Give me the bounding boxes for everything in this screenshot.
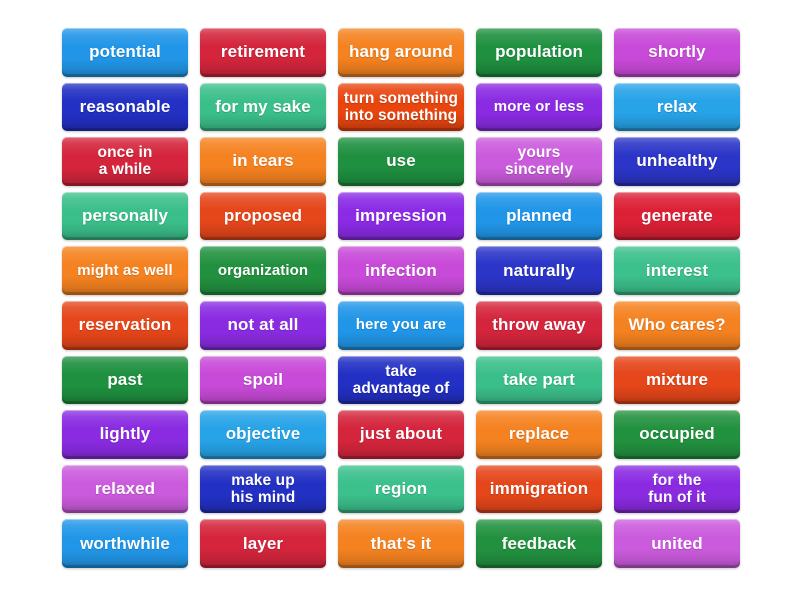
- word-tile[interactable]: potential: [62, 28, 188, 77]
- word-tile-label: throw away: [480, 316, 598, 334]
- word-tile-label: region: [342, 480, 460, 498]
- word-tile-label: objective: [204, 425, 322, 443]
- word-tile[interactable]: planned: [476, 192, 602, 241]
- word-tile[interactable]: immigration: [476, 465, 602, 514]
- word-tile-label: take advantage of: [342, 363, 460, 398]
- word-tile[interactable]: relax: [614, 83, 740, 132]
- word-tile-label: in tears: [204, 152, 322, 170]
- word-tile-label: generate: [618, 207, 736, 225]
- word-tile[interactable]: yours sincerely: [476, 137, 602, 186]
- word-tile[interactable]: turn something into something: [338, 83, 464, 132]
- word-tile-label: occupied: [618, 425, 736, 443]
- word-tile[interactable]: mixture: [614, 356, 740, 405]
- word-tile[interactable]: for the fun of it: [614, 465, 740, 514]
- word-tile-label: population: [480, 43, 598, 61]
- word-tile[interactable]: reservation: [62, 301, 188, 350]
- word-tile[interactable]: layer: [200, 519, 326, 568]
- word-tile[interactable]: generate: [614, 192, 740, 241]
- word-tile-label: retirement: [204, 43, 322, 61]
- word-tile[interactable]: impression: [338, 192, 464, 241]
- word-tile[interactable]: once in a while: [62, 137, 188, 186]
- word-tile-label: here you are: [342, 317, 460, 333]
- word-tile[interactable]: shortly: [614, 28, 740, 77]
- word-tile-label: layer: [204, 535, 322, 553]
- word-tile[interactable]: region: [338, 465, 464, 514]
- word-tile-label: yours sincerely: [480, 144, 598, 179]
- word-tile[interactable]: hang around: [338, 28, 464, 77]
- word-tile[interactable]: past: [62, 356, 188, 405]
- word-tile[interactable]: might as well: [62, 246, 188, 295]
- word-tile[interactable]: for my sake: [200, 83, 326, 132]
- word-tile[interactable]: just about: [338, 410, 464, 459]
- word-tile[interactable]: population: [476, 28, 602, 77]
- word-tile[interactable]: make up his mind: [200, 465, 326, 514]
- word-tile-label: more or less: [480, 99, 598, 115]
- word-tile-label: impression: [342, 207, 460, 225]
- word-tile[interactable]: that's it: [338, 519, 464, 568]
- word-tile-label: interest: [618, 262, 736, 280]
- word-tile-label: feedback: [480, 535, 598, 553]
- word-tile-label: not at all: [204, 316, 322, 334]
- word-tile-label: infection: [342, 262, 460, 280]
- word-tile[interactable]: naturally: [476, 246, 602, 295]
- word-tile-label: for the fun of it: [618, 472, 736, 507]
- word-tile-label: worthwhile: [66, 535, 184, 553]
- word-tile-label: organization: [204, 263, 322, 279]
- word-tile-label: Who cares?: [618, 316, 736, 334]
- word-tile-label: take part: [480, 371, 598, 389]
- word-tile-label: use: [342, 152, 460, 170]
- word-tile-label: that's it: [342, 535, 460, 553]
- word-tile-label: make up his mind: [204, 472, 322, 507]
- word-tile-label: lightly: [66, 425, 184, 443]
- word-tile-label: personally: [66, 207, 184, 225]
- word-tile-label: replace: [480, 425, 598, 443]
- word-tile-label: reservation: [66, 316, 184, 334]
- word-tile-label: planned: [480, 207, 598, 225]
- word-tile-label: spoil: [204, 371, 322, 389]
- word-tile-label: shortly: [618, 43, 736, 61]
- word-tile-label: once in a while: [66, 144, 184, 179]
- word-tile-label: proposed: [204, 207, 322, 225]
- word-tile-label: naturally: [480, 262, 598, 280]
- word-tile[interactable]: reasonable: [62, 83, 188, 132]
- word-tile[interactable]: in tears: [200, 137, 326, 186]
- word-tile[interactable]: infection: [338, 246, 464, 295]
- word-tile-label: turn something into something: [342, 90, 460, 125]
- word-tile[interactable]: spoil: [200, 356, 326, 405]
- word-tile-label: mixture: [618, 371, 736, 389]
- word-tile-label: unhealthy: [618, 152, 736, 170]
- word-tile-label: just about: [342, 425, 460, 443]
- word-tile[interactable]: more or less: [476, 83, 602, 132]
- word-tile-label: past: [66, 371, 184, 389]
- word-tile-label: for my sake: [204, 98, 322, 116]
- word-tile[interactable]: organization: [200, 246, 326, 295]
- word-tile[interactable]: feedback: [476, 519, 602, 568]
- word-tile-label: united: [618, 535, 736, 553]
- word-tile-label: potential: [66, 43, 184, 61]
- word-tile[interactable]: occupied: [614, 410, 740, 459]
- word-tiles-board: potentialretirementhang aroundpopulation…: [62, 28, 740, 568]
- word-tile[interactable]: proposed: [200, 192, 326, 241]
- word-tile-label: might as well: [66, 263, 184, 279]
- word-tile[interactable]: take advantage of: [338, 356, 464, 405]
- word-tile[interactable]: use: [338, 137, 464, 186]
- word-tile[interactable]: throw away: [476, 301, 602, 350]
- word-tile[interactable]: unhealthy: [614, 137, 740, 186]
- word-tile-label: hang around: [342, 43, 460, 61]
- word-tile[interactable]: objective: [200, 410, 326, 459]
- word-tile[interactable]: retirement: [200, 28, 326, 77]
- word-tile[interactable]: here you are: [338, 301, 464, 350]
- word-tile[interactable]: united: [614, 519, 740, 568]
- word-tile-label: reasonable: [66, 98, 184, 116]
- word-tile[interactable]: Who cares?: [614, 301, 740, 350]
- word-tile[interactable]: worthwhile: [62, 519, 188, 568]
- word-tile[interactable]: personally: [62, 192, 188, 241]
- word-tile[interactable]: take part: [476, 356, 602, 405]
- word-tile-label: relaxed: [66, 480, 184, 498]
- word-tile[interactable]: not at all: [200, 301, 326, 350]
- word-tile[interactable]: replace: [476, 410, 602, 459]
- word-tile-label: relax: [618, 98, 736, 116]
- word-tile[interactable]: interest: [614, 246, 740, 295]
- word-tile[interactable]: lightly: [62, 410, 188, 459]
- word-tile[interactable]: relaxed: [62, 465, 188, 514]
- word-tile-label: immigration: [480, 480, 598, 498]
